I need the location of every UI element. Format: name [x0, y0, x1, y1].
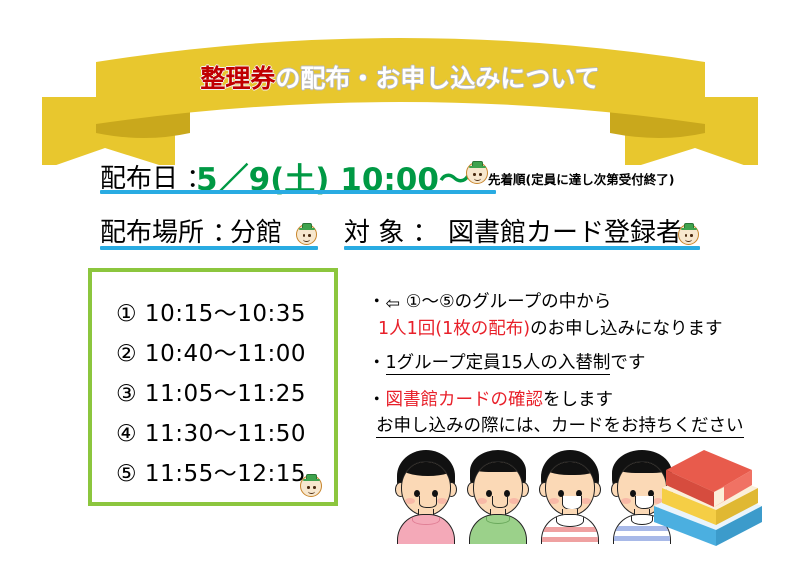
kid-illustration-girl-pink	[388, 448, 464, 544]
poster-canvas: 整理券の配布・お申し込みについて 配布日 ： 5／9(土) 10:00～ 先着順…	[0, 0, 800, 564]
note-3-underlined-text: お申し込みの際には、カードをお持ちください	[376, 416, 744, 438]
place-label: 配布場所 ：	[100, 212, 238, 249]
note-2: ・1グループ定員15人の入替制です	[368, 349, 645, 374]
note-1-red-text: 1人1回(1枚の配布)	[378, 319, 530, 339]
time-slot-1: ① 10:15～10:35	[116, 294, 306, 328]
note-2-bullet: ・	[368, 353, 386, 373]
date-note: 先着順(定員に達し次第受付終了)	[488, 169, 674, 188]
time-slot-3: ③ 11:05～11:25	[116, 374, 306, 408]
note-1-bullet: ・	[368, 292, 386, 312]
note-3-red-text: 図書館カードの確認	[386, 390, 544, 410]
target-value: 図書館カード登録者	[448, 212, 682, 249]
time-slot-5: ⑤ 11:55～12:15	[116, 454, 306, 488]
note-1-line-1: ・⇦ ①～⑤のグループの中から	[368, 288, 611, 314]
banner-title-rest: の配布・お申し込みについて	[275, 64, 599, 93]
underline-place	[100, 246, 318, 250]
underline-target	[344, 246, 700, 250]
mascot-character	[296, 224, 317, 245]
note-3-line-1: ・図書館カードの確認をします	[368, 386, 613, 411]
note-3-black-text: をします	[543, 390, 613, 410]
note-3-bullet: ・	[368, 390, 386, 410]
time-slot-2: ② 10:40～11:00	[116, 334, 306, 368]
kid-illustration-boy-green	[460, 448, 536, 544]
target-label: 対 象 ：	[344, 212, 439, 249]
note-1-black-text: のお申し込みになります	[530, 319, 723, 339]
note-3-line-2: お申し込みの際には、カードをお持ちください	[376, 412, 744, 437]
mascot-character	[300, 475, 322, 497]
underline-date	[100, 190, 496, 194]
note-2-plain-text: です	[610, 353, 645, 373]
banner-title-highlight: 整理券	[200, 64, 275, 93]
note-1-text: ①～⑤のグループの中から	[406, 292, 611, 312]
kid-illustration-girl-stripes-red	[532, 448, 608, 544]
banner-ribbon: 整理券の配布・お申し込みについて	[0, 0, 800, 165]
mascot-character	[678, 224, 699, 245]
note-2-underlined-text: 1グループ定員15人の入替制	[386, 353, 611, 375]
time-slot-box: ① 10:15～10:35 ② 10:40～11:00 ③ 11:05～11:2…	[88, 268, 338, 506]
left-arrow-icon: ⇦	[386, 294, 401, 314]
mascot-character	[466, 162, 488, 184]
place-value: 分館	[230, 212, 282, 249]
note-1-line-2: 1人1回(1枚の配布)のお申し込みになります	[378, 315, 723, 340]
book-stack-illustration	[648, 444, 768, 554]
banner-title: 整理券の配布・お申し込みについて	[0, 66, 800, 91]
time-slot-4: ④ 11:30～11:50	[116, 414, 306, 448]
